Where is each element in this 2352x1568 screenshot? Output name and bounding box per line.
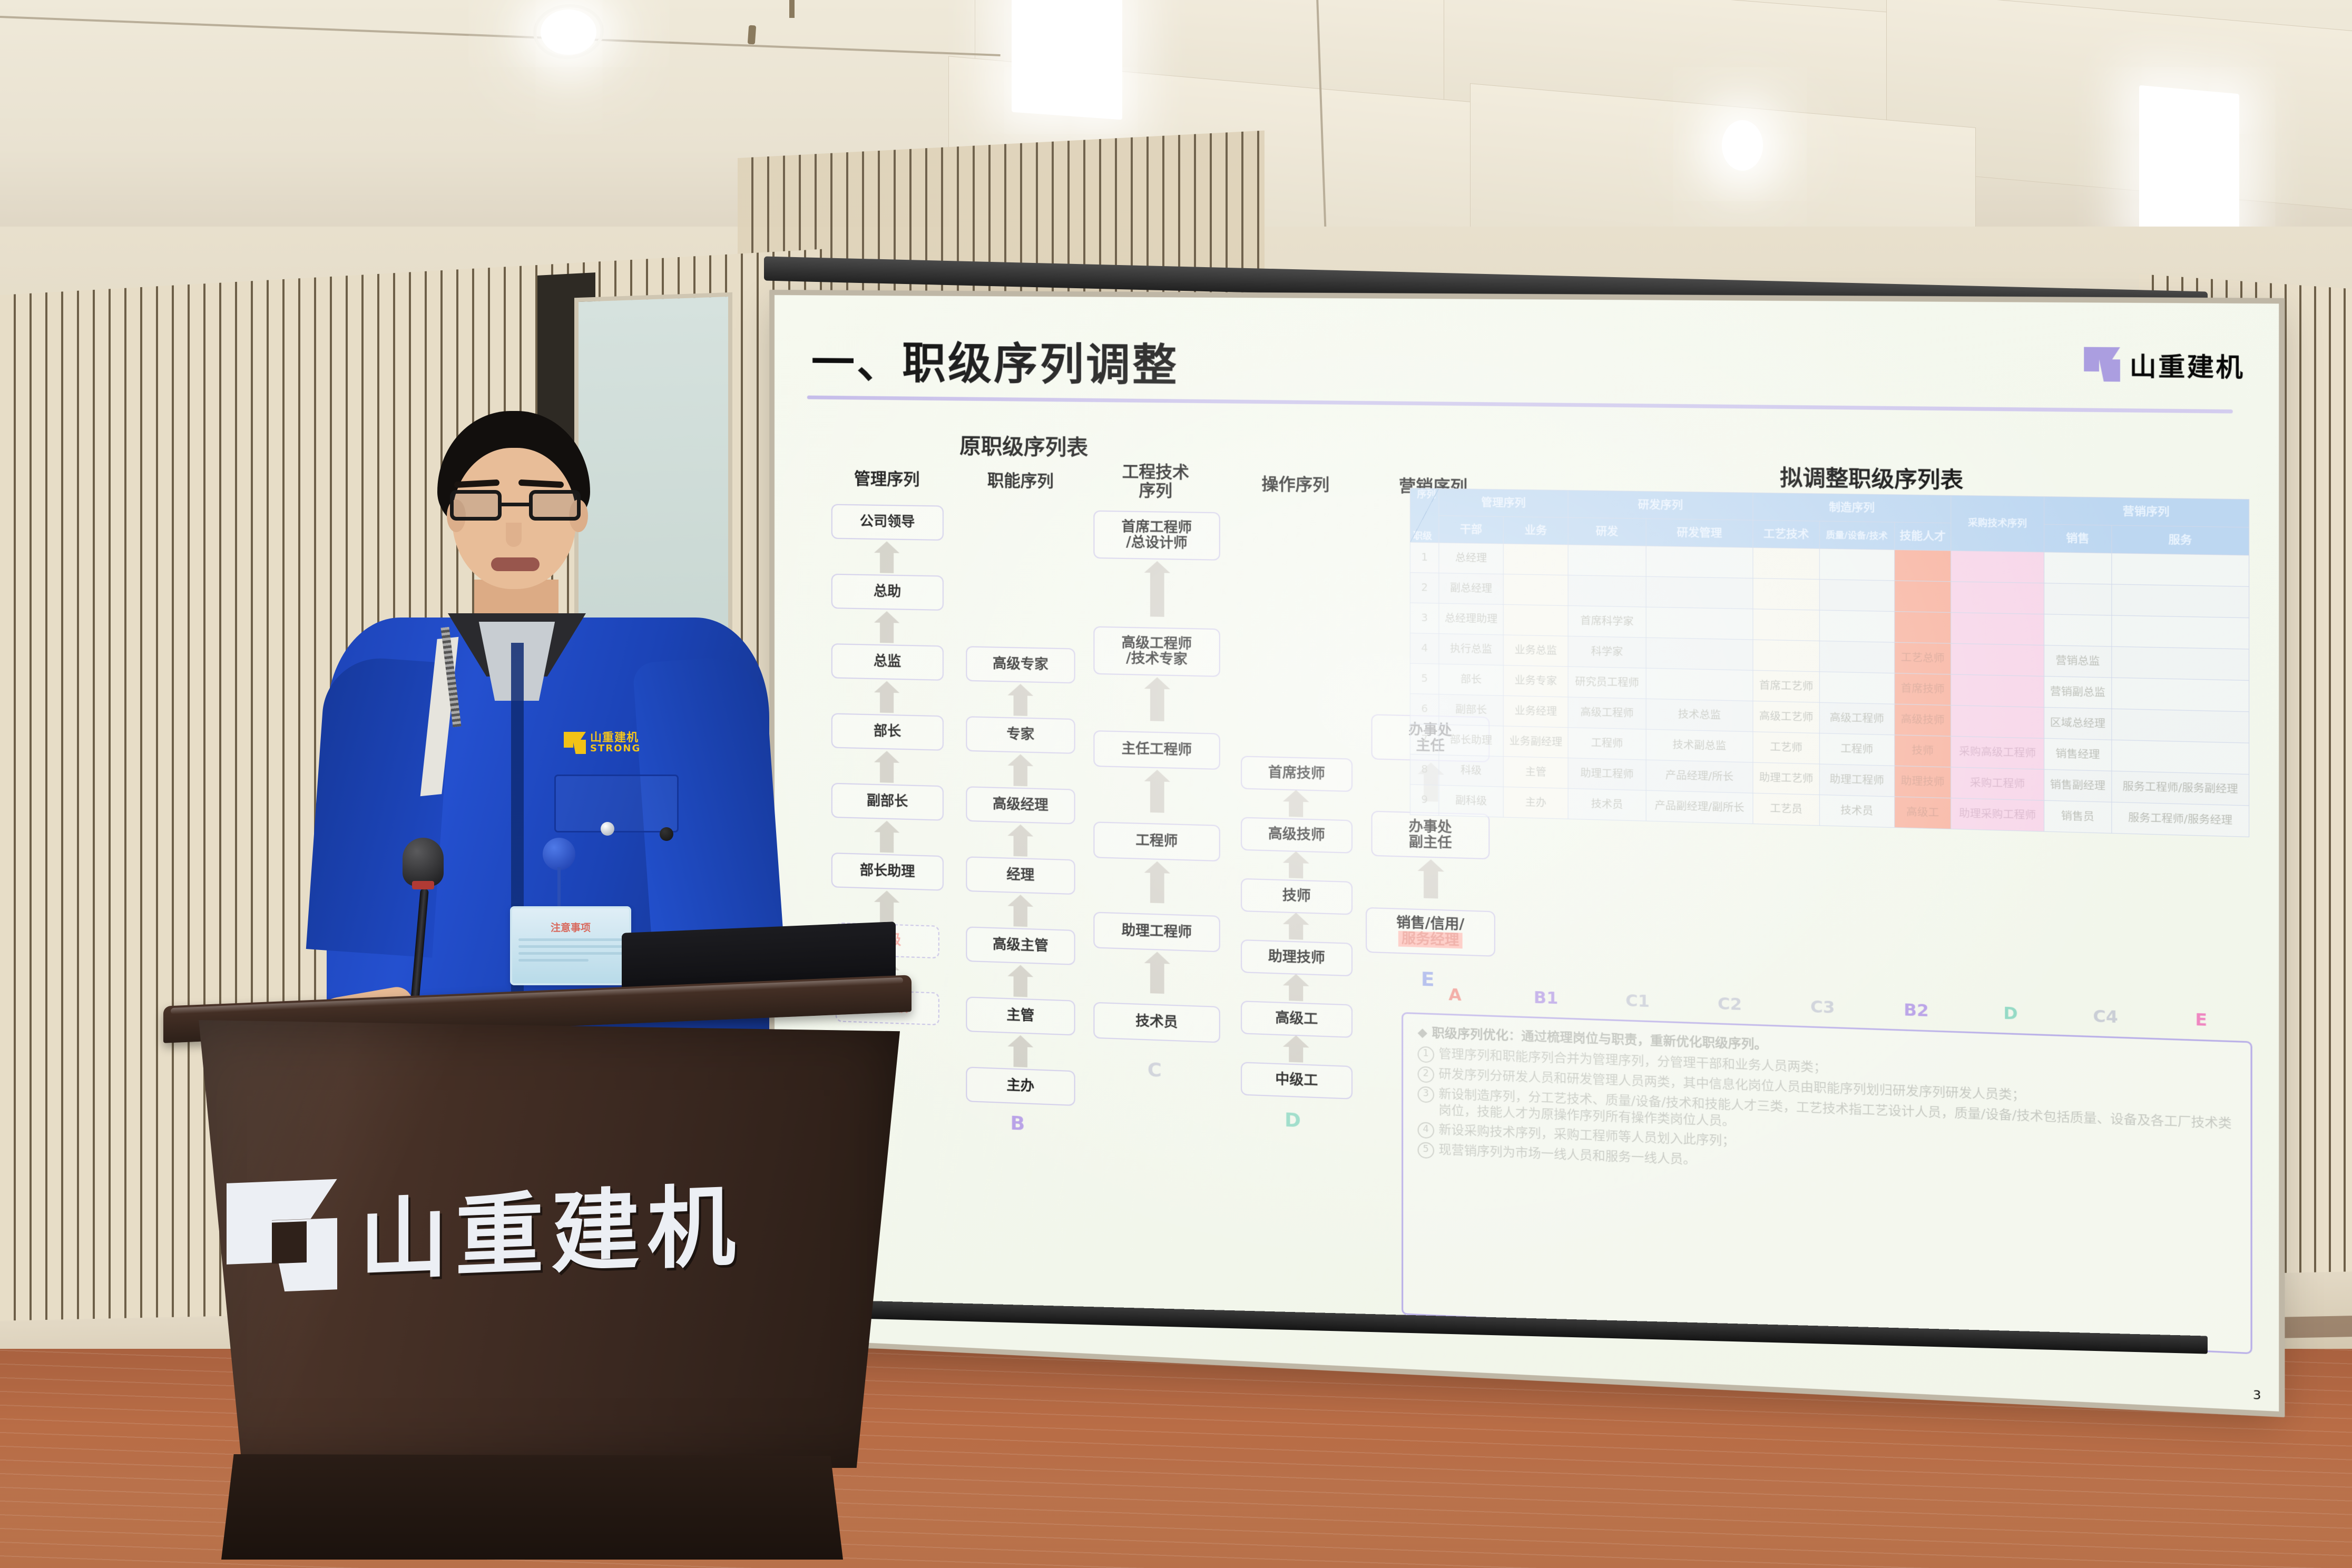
table-cell: 服务工程师/服务经理	[2112, 802, 2249, 837]
grade-letter-b: B	[1010, 1112, 1025, 1135]
table-grade-letter: C2	[1683, 993, 1776, 1015]
table-grade-letter: A	[1410, 984, 1501, 1006]
table-cell	[1951, 674, 2044, 708]
flow-node: 总监	[831, 643, 944, 681]
flow-col-header-function: 职能序列	[966, 472, 1075, 492]
flow-node: 助理工程师	[1093, 912, 1220, 953]
flow-arrow	[880, 831, 894, 853]
table-cell: 总经理	[1439, 543, 1503, 574]
table-cell: 助理工程师	[1819, 764, 1894, 797]
table-cell	[1503, 604, 1568, 636]
chest-logo-text: 山重建机 STRONG	[590, 732, 641, 753]
table-cell: 研究员工程师	[1568, 667, 1645, 699]
table-cell	[2112, 615, 2249, 649]
table-cell: 执行总监	[1439, 634, 1503, 665]
ceiling-downlight	[1722, 120, 1763, 171]
flow-node-line2: /技术专家	[1126, 651, 1188, 668]
sub-header: 工艺技术	[1753, 520, 1819, 548]
glasses-lens-right	[529, 490, 581, 521]
table-cell: 总经理助理	[1439, 603, 1503, 635]
flow-node: 高级技师	[1241, 817, 1353, 854]
flow-node-two-line: 办事处 副主任	[1371, 811, 1490, 859]
table-cell: 工程师	[1819, 733, 1894, 766]
flow-arrow	[880, 691, 894, 713]
new-table-heading: 拟调整职级序列表	[1780, 460, 1963, 494]
notes-list: 管理序列和职能序列合并为管理序列，分管理干部和业务人员两类；研发序列分研发人员和…	[1418, 1045, 2236, 1190]
table-cell	[1753, 579, 1819, 611]
table-cell: 技术员	[1568, 788, 1645, 821]
flow-node: 助理技师	[1241, 939, 1353, 976]
table-row-index: 5	[1410, 663, 1439, 694]
podium-brand-mark-icon	[227, 1179, 337, 1293]
flow-node: 主管	[966, 996, 1075, 1035]
flow-col-header-engineering: 工程技术序列	[1093, 463, 1218, 502]
table-cell	[1951, 612, 2044, 645]
chest-logo-cn: 山重建机	[590, 732, 641, 744]
table-grade-letter: C3	[1776, 996, 1869, 1018]
flow-node-split: 高级工程师 /技术专家	[1093, 626, 1220, 677]
flow-arrow	[1014, 694, 1027, 716]
title-underline	[807, 396, 2233, 414]
table-cell	[1646, 607, 1753, 640]
sub-header: 研发	[1568, 517, 1645, 546]
table-cell: 技术员	[1819, 795, 1894, 827]
flow-node-line2: /总设计师	[1126, 535, 1188, 551]
table-cell: 副部长	[1439, 694, 1503, 726]
table-cell: 区域总经理	[2044, 707, 2111, 740]
grade-letter-d: D	[1285, 1109, 1301, 1132]
flow-col-header-operation: 操作序列	[1241, 475, 1350, 495]
flow-node: 经理	[966, 856, 1075, 895]
flow-node: 首席技师	[1241, 756, 1353, 792]
flow-node-two-line-highlight: 销售/信用/ 服务经理	[1366, 907, 1495, 957]
table-cell	[1646, 638, 1753, 670]
flow-arrow	[1014, 975, 1027, 997]
table-cell	[1819, 641, 1894, 673]
table-cell: 高级技师	[1894, 704, 1951, 736]
flow-node: 技术员	[1093, 1002, 1220, 1043]
table-cell: 工艺总师	[1894, 642, 1951, 674]
chest-logo-en: STRONG	[590, 744, 641, 753]
table-row-index: 9	[1410, 785, 1439, 816]
table-cell	[1819, 672, 1894, 704]
table-cell: 业务总监	[1503, 635, 1568, 667]
flow-node: 工程师	[1093, 821, 1220, 861]
flow-arrow	[880, 901, 894, 923]
flow-node: 副部长	[831, 783, 944, 821]
table-cell	[2044, 552, 2111, 584]
flow-arrow	[1150, 780, 1164, 813]
glasses-lens-left	[450, 490, 502, 521]
table-cell	[1951, 705, 2044, 739]
pocket-snap-button	[601, 822, 614, 836]
flow-node: 高级专家	[966, 646, 1075, 683]
table-grade-letter: C4	[2058, 1006, 2153, 1028]
table-grade-letter: B1	[1501, 987, 1592, 1010]
grade-letter-c: C	[1148, 1059, 1162, 1082]
table-cell: 科学家	[1568, 636, 1645, 668]
table-cell	[2044, 583, 2111, 615]
flow-node-line2: 服务经理	[1398, 931, 1463, 949]
table-cell	[1503, 544, 1568, 575]
table-grade-letter: D	[1963, 1003, 2058, 1025]
table-cell: 技师	[1894, 735, 1951, 767]
table-cell: 助理工程师	[1568, 758, 1645, 791]
table-cell: 副科级	[1439, 785, 1503, 817]
table-grade-letter: E	[2153, 1009, 2249, 1032]
pocket-snap-button	[660, 827, 673, 841]
flow-arrow	[880, 761, 894, 783]
table-cell: 营销副总监	[2044, 676, 2111, 709]
table-row-index: 2	[1410, 573, 1439, 603]
table-cell: 产品经理/所长	[1646, 760, 1753, 793]
flow-arrow	[1150, 688, 1164, 721]
flow-node: 总助	[831, 574, 944, 611]
badge-reel	[543, 838, 575, 870]
table-row-index: 3	[1410, 603, 1439, 634]
flow-arrow	[1289, 985, 1303, 1002]
table-cell: 业务副经理	[1503, 726, 1568, 758]
flow-node: 专家	[966, 716, 1075, 754]
speaker-id-badge: 注意事项	[510, 906, 631, 985]
table-row-index: 6	[1410, 693, 1439, 724]
table-cell: 首席工艺师	[1753, 670, 1819, 702]
flow-arrow	[1150, 962, 1164, 994]
table-cell: 技术总监	[1646, 699, 1753, 732]
flow-node: 主任工程师	[1093, 730, 1220, 770]
notes-lead-text: ：通过梳理岗位与职责，重新优化职级序列。	[1508, 1029, 1767, 1052]
flow-arrow	[1424, 870, 1438, 898]
podium: 山重建机	[158, 991, 927, 1568]
flow-node: 技师	[1241, 878, 1353, 915]
table-cell	[1568, 575, 1645, 607]
speaker-mouth	[491, 557, 540, 571]
flow-arrow	[1289, 1046, 1303, 1063]
table-cell: 技术副总监	[1646, 729, 1753, 762]
table-cell	[1894, 550, 1951, 581]
speaker-chest-pocket	[554, 775, 679, 832]
flow-node: 高级经理	[966, 786, 1075, 824]
table-cell: 销售员	[2044, 800, 2111, 833]
flow-arrow	[880, 622, 894, 643]
table-cell	[1951, 582, 2044, 614]
badge-text-line	[518, 952, 623, 955]
sub-header: 干部	[1439, 516, 1503, 544]
ceiling-downlight	[541, 9, 596, 55]
flow-arrow	[1014, 835, 1027, 857]
badge-title: 注意事项	[512, 920, 629, 934]
flow-arrow	[1014, 905, 1027, 927]
table-row-index: 4	[1410, 633, 1439, 664]
table-cell	[1753, 609, 1819, 641]
flow-node-line1: 首席工程师	[1122, 520, 1192, 536]
presentation-room-scene: 一、职级序列调整 山重建机 原职级序列表 拟调整职级序列表 管理序列 公司领导 …	[0, 0, 2352, 1568]
flow-node: 高级工	[1241, 1001, 1353, 1038]
group-header: 采购技术序列	[1951, 495, 2044, 552]
table-cell: 首席技师	[1894, 673, 1951, 705]
table-cell	[2112, 709, 2249, 743]
flow-arrow	[1014, 1045, 1027, 1067]
table-cell: 主办	[1503, 787, 1568, 819]
table-cell	[1819, 548, 1894, 581]
speaker-chest-logo: 山重建机 STRONG	[564, 727, 674, 759]
flow-arrow	[1289, 800, 1303, 817]
badge-text-line	[518, 959, 589, 962]
microphone-head	[403, 838, 444, 886]
table-cell	[1646, 576, 1753, 609]
flow-node: 中级工	[1241, 1062, 1353, 1099]
table-cell	[2044, 614, 2111, 646]
table-body: 1总经理2副总经理3总经理助理首席科学家4执行总监业务总监科学家工艺总师营销总监…	[1410, 542, 2249, 837]
slide-brand-logo: 山重建机	[2084, 346, 2245, 384]
flow-node: 高级主管	[966, 926, 1075, 965]
original-table-heading: 原职级序列表	[959, 429, 1088, 461]
table-cell	[2112, 553, 2249, 586]
table-grade-letter: C1	[1592, 990, 1683, 1012]
flow-arrow	[1289, 862, 1303, 878]
adjusted-grade-table: 序列 职级 管理序列 研发序列 制造序列 采购技术序列 营销序列 干部 业务 研…	[1410, 488, 2249, 837]
table-cell: 采购工程师	[1951, 767, 2044, 800]
table-cell: 高级工	[1894, 797, 1951, 829]
group-header: 研发序列	[1568, 491, 1753, 521]
table-cell: 高级工程师	[1568, 697, 1645, 729]
table-cell: 助理工艺师	[1753, 762, 1819, 795]
projection-screen: 一、职级序列调整 山重建机 原职级序列表 拟调整职级序列表 管理序列 公司领导 …	[775, 295, 2279, 1412]
table-cell	[1753, 547, 1819, 579]
badge-text-line	[518, 945, 623, 948]
flow-col-header-management: 管理序列	[831, 469, 943, 489]
table-cell	[1753, 640, 1819, 672]
table-cell: 助理采购工程师	[1951, 798, 2044, 831]
flow-arrow	[1150, 572, 1164, 617]
table-cell	[1503, 574, 1568, 606]
table-cell	[2112, 646, 2249, 680]
table-cell: 科级	[1439, 755, 1503, 787]
ceiling-light-panel	[2139, 85, 2239, 242]
table-cell: 部长	[1439, 664, 1503, 695]
glasses-bridge	[502, 503, 529, 506]
table-cell	[1646, 668, 1753, 701]
slide-title: 一、职级序列调整	[811, 327, 1179, 393]
table-cell: 产品副经理/副所长	[1646, 790, 1753, 824]
table-cell: 工程师	[1568, 728, 1645, 760]
flow-node-line1: 高级工程师	[1122, 635, 1192, 652]
group-header: 制造序列	[1753, 493, 1951, 523]
table-cell: 业务专家	[1503, 665, 1568, 697]
chest-logo-mark-icon	[564, 732, 586, 754]
table-cell	[2112, 678, 2249, 712]
table-cell: 工艺员	[1753, 793, 1819, 826]
sub-header: 业务	[1503, 516, 1568, 544]
table-cell	[1951, 643, 2044, 676]
table-cell	[1819, 610, 1894, 642]
badge-text-line	[518, 938, 623, 941]
notes-lead-label: 职级序列优化	[1432, 1026, 1508, 1043]
table-cell	[1646, 546, 1753, 578]
table-cell	[2112, 740, 2249, 774]
sprinkler-head	[748, 25, 756, 45]
flow-node: 公司领导	[831, 504, 944, 541]
sub-header: 技能人才	[1894, 522, 1951, 551]
notes-box: ◆ 职级序列优化：通过梳理岗位与职责，重新优化职级序列。 管理序列和职能序列合并…	[1402, 1012, 2252, 1354]
podium-logo: 山重建机	[227, 1154, 743, 1302]
flow-node: 部长助理	[831, 852, 944, 891]
table-cell: 高级工程师	[1819, 702, 1894, 735]
brand-mark-icon	[2084, 347, 2120, 382]
ceiling-light-panel	[1012, 0, 1122, 120]
table-cell: 主管	[1503, 757, 1568, 789]
podium-base	[221, 1454, 843, 1560]
flow-arrow	[1289, 923, 1303, 939]
table-row-index: 8	[1410, 754, 1439, 785]
table-cell: 销售副经理	[2044, 769, 2111, 802]
sub-header: 质量/设备/技术	[1819, 521, 1894, 550]
table-cell: 首席科学家	[1568, 605, 1645, 638]
group-header: 营销序列	[2044, 497, 2249, 527]
sub-header: 销售	[2044, 524, 2111, 553]
table-cell	[2112, 584, 2249, 618]
table-cell: 工艺师	[1753, 732, 1819, 764]
presentation-slide: 一、职级序列调整 山重建机 原职级序列表 拟调整职级序列表 管理序列 公司领导 …	[775, 295, 2279, 1412]
table-cell	[1894, 612, 1951, 644]
sub-header: 研发管理	[1646, 518, 1753, 547]
flow-node-line2: 副主任	[1409, 835, 1452, 851]
table-cell: 副总经理	[1439, 573, 1503, 605]
table-cell: 采购高级工程师	[1951, 736, 2044, 769]
table-cell: 业务经理	[1503, 695, 1568, 727]
table-grade-letter: B2	[1869, 999, 1963, 1022]
table-row-index: 7	[1410, 724, 1439, 755]
microphone-indicator-ring	[412, 881, 434, 889]
brand-name: 山重建机	[2130, 346, 2245, 384]
flow-arrow	[1014, 765, 1027, 786]
flow-node: 主办	[966, 1067, 1075, 1106]
flow-arrow	[880, 552, 894, 573]
table-cell	[1819, 580, 1894, 612]
sub-header: 服务	[2112, 525, 2249, 555]
podium-brand-text: 山重建机	[359, 1154, 743, 1297]
table-cell	[1894, 581, 1951, 613]
table-cell: 销售经理	[2044, 738, 2111, 771]
flow-arrow	[1150, 872, 1164, 904]
badge-cord	[557, 867, 561, 909]
table-row-index: 1	[1410, 542, 1439, 573]
table-cell: 营销总监	[2044, 645, 2111, 678]
speaker-nose	[506, 523, 522, 547]
flow-node: 部长	[831, 713, 944, 750]
speaker-glasses	[450, 490, 581, 521]
table-cell	[1568, 545, 1645, 576]
flow-node-line1: 办事处	[1409, 819, 1452, 836]
slide-page-number: 3	[2253, 1388, 2261, 1403]
table-cell: 部长助理	[1439, 724, 1503, 756]
group-header: 管理序列	[1439, 488, 1569, 517]
flow-node-split: 首席工程师 /总设计师	[1093, 511, 1220, 561]
ceiling-rod	[789, 0, 795, 18]
table-corner-cell: 序列 职级	[1410, 488, 1439, 543]
table-cell	[1951, 551, 2044, 583]
table-cell: 高级工艺师	[1753, 701, 1819, 733]
table-cell: 助理技师	[1894, 766, 1951, 798]
table-cell: 服务工程师/服务副经理	[2112, 771, 2249, 806]
